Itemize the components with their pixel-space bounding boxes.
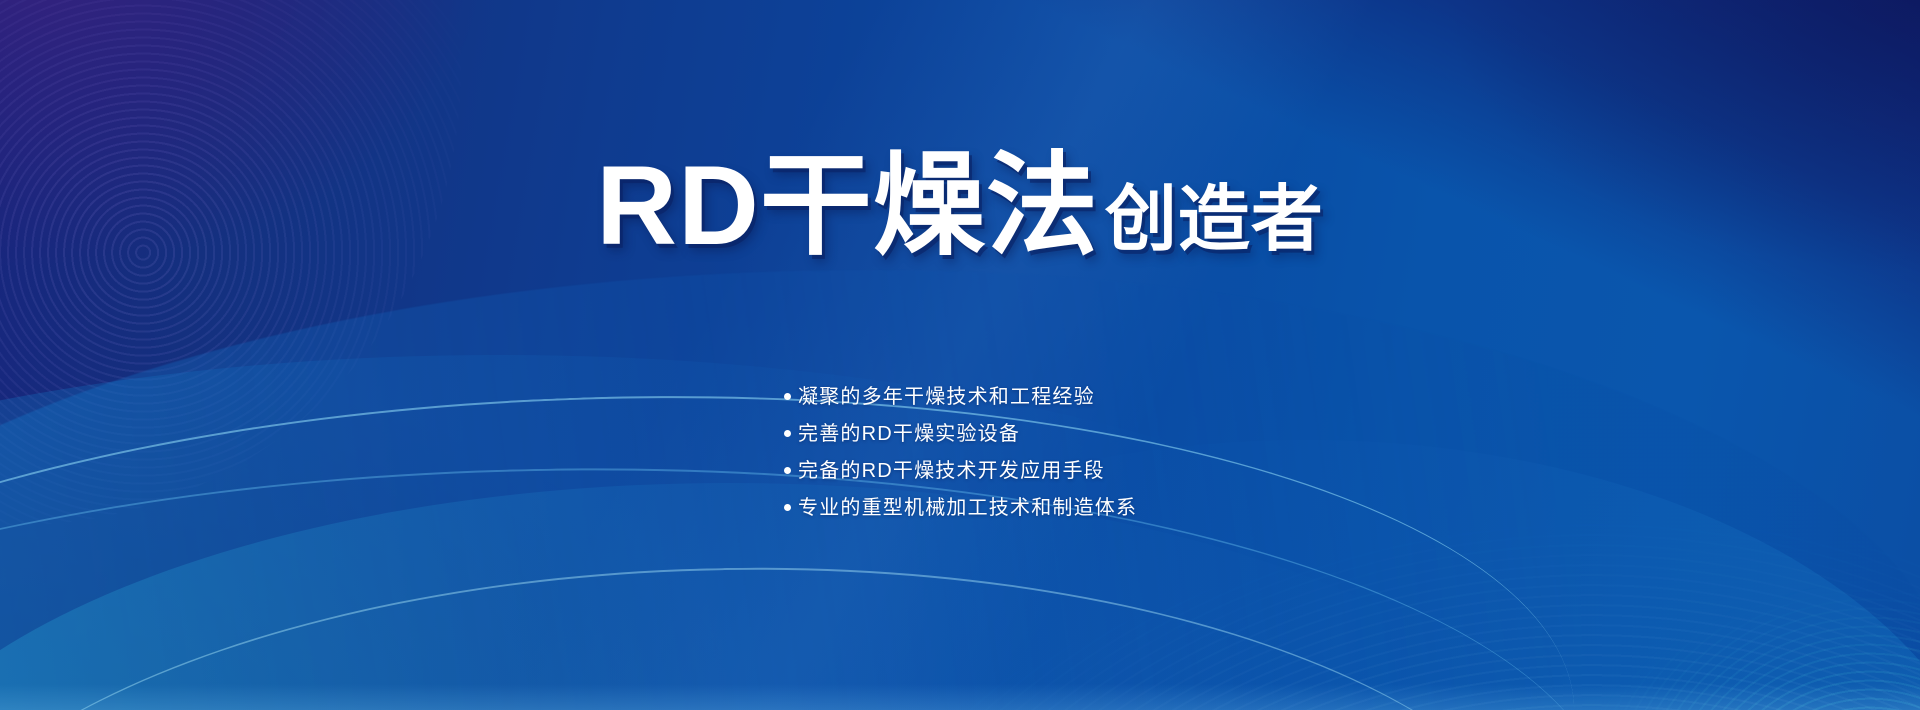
list-item: 凝聚的多年干燥技术和工程经验 <box>784 378 1137 415</box>
headline-sub-text: 创造者 <box>1105 180 1324 260</box>
list-item: 完善的RD干燥实验设备 <box>784 415 1137 452</box>
bullet-dot-icon <box>784 504 791 511</box>
feature-bullet-list: 凝聚的多年干燥技术和工程经验 完善的RD干燥实验设备 完备的RD干燥技术开发应用… <box>784 378 1137 526</box>
bullet-dot-icon <box>784 393 791 400</box>
bullet-text: 专业的重型机械加工技术和制造体系 <box>798 498 1137 518</box>
list-item: 完备的RD干燥技术开发应用手段 <box>784 452 1137 489</box>
bullet-dot-icon <box>784 467 791 474</box>
hero-banner: RD干燥法创造者 凝聚的多年干燥技术和工程经验 完善的RD干燥实验设备 完备的R… <box>0 0 1920 710</box>
banner-headline: RD干燥法创造者 <box>0 150 1920 262</box>
list-item: 专业的重型机械加工技术和制造体系 <box>784 489 1137 526</box>
bullet-dot-icon <box>784 430 791 437</box>
bullet-text: 完备的RD干燥技术开发应用手段 <box>798 461 1105 481</box>
bullet-text: 完善的RD干燥实验设备 <box>798 424 1020 444</box>
headline-main-text: RD干燥法 <box>596 143 1099 268</box>
banner-content: RD干燥法创造者 凝聚的多年干燥技术和工程经验 完善的RD干燥实验设备 完备的R… <box>0 0 1920 710</box>
bullet-text: 凝聚的多年干燥技术和工程经验 <box>798 387 1095 407</box>
